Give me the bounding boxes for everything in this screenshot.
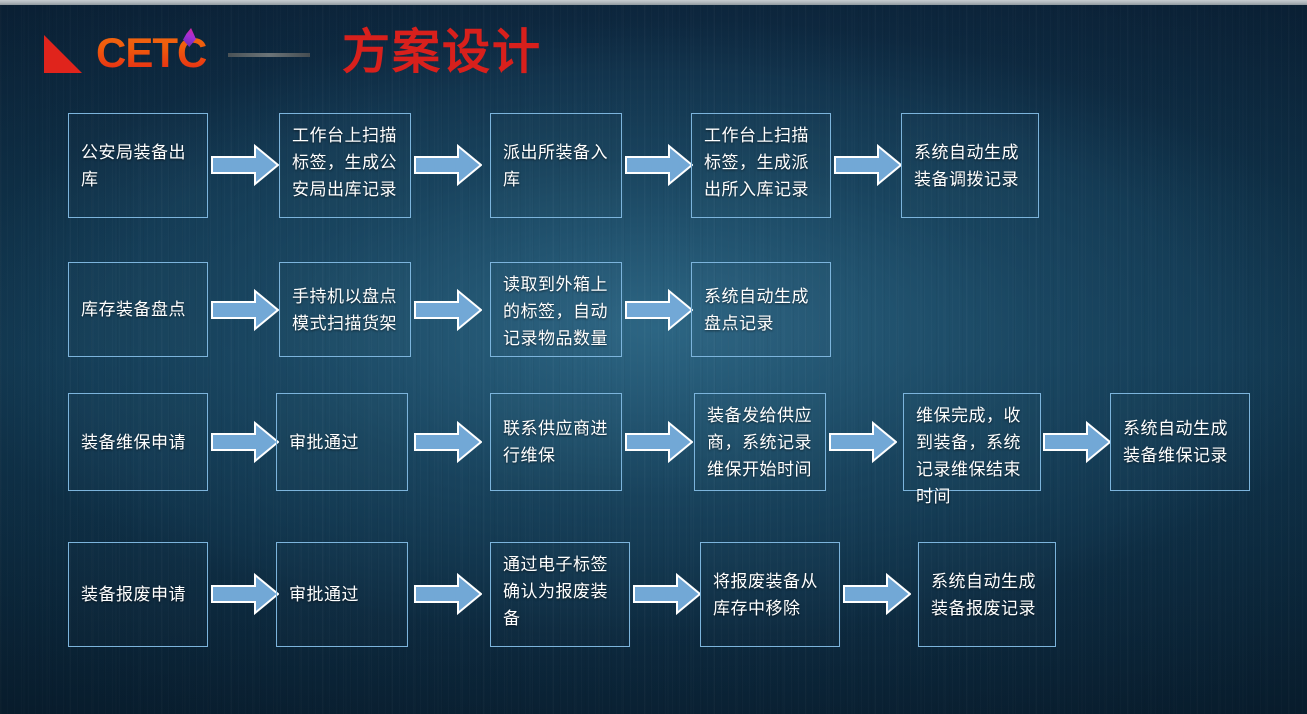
- flow-step-label: 将报废装备从库存中移除: [713, 568, 828, 622]
- flow-step-label: 读取到外箱上的标签，自动记录物品数量: [503, 271, 610, 352]
- flow-step-box: 系统自动生成盘点记录: [691, 262, 831, 357]
- flow-arrow: [829, 420, 897, 464]
- flow-step-box: 派出所装备入库: [490, 113, 622, 218]
- flow-arrow: [211, 143, 279, 187]
- slide-canvas: CETC 方案设计 公安局装备出库 工作台上扫描标签，生成公安局出库记录 派出所…: [0, 0, 1307, 714]
- flow-arrow: [625, 143, 693, 187]
- flow-step-box: 系统自动生成装备维保记录: [1110, 393, 1250, 491]
- flow-step-box: 工作台上扫描标签，生成公安局出库记录: [279, 113, 411, 218]
- flow-step-label: 系统自动生成盘点记录: [704, 283, 819, 337]
- flow-step-label: 审批通过: [289, 581, 396, 608]
- flow-step-box: 公安局装备出库: [68, 113, 208, 218]
- flow-step-box: 审批通过: [276, 542, 408, 647]
- flow-arrow: [843, 572, 911, 616]
- flow-arrow: [625, 420, 693, 464]
- flow-step-box: 装备维保申请: [68, 393, 208, 491]
- flow-step-label: 装备报废申请: [81, 581, 196, 608]
- flow-step-box: 维保完成，收到装备，系统记录维保结束时间: [903, 393, 1041, 491]
- flow-step-label: 手持机以盘点模式扫描货架: [292, 283, 399, 337]
- flow-step-box: 库存装备盘点: [68, 262, 208, 357]
- flow-step-box: 联系供应商进行维保: [490, 393, 622, 491]
- flow-arrow: [414, 572, 482, 616]
- flow-arrow: [211, 420, 279, 464]
- flow-step-box: 系统自动生成装备调拨记录: [901, 113, 1039, 218]
- flow-arrow: [211, 288, 279, 332]
- flow-step-label: 系统自动生成装备报废记录: [931, 568, 1044, 622]
- flow-arrow: [414, 420, 482, 464]
- flow-step-label: 工作台上扫描标签，生成派出所入库记录: [704, 122, 819, 203]
- flow-arrow: [414, 143, 482, 187]
- flow-step-label: 库存装备盘点: [81, 296, 196, 323]
- flow-step-label: 装备维保申请: [81, 429, 196, 456]
- flow-step-box: 将报废装备从库存中移除: [700, 542, 840, 647]
- flow-step-label: 审批通过: [289, 429, 396, 456]
- flow-step-box: 装备报废申请: [68, 542, 208, 647]
- page-title: 方案设计: [342, 24, 542, 82]
- flow-step-box: 读取到外箱上的标签，自动记录物品数量: [490, 262, 622, 357]
- flow-step-label: 系统自动生成装备维保记录: [1123, 415, 1238, 469]
- red-triangle-icon: [44, 35, 82, 73]
- flow-step-box: 手持机以盘点模式扫描货架: [279, 262, 411, 357]
- flow-step-box: 工作台上扫描标签，生成派出所入库记录: [691, 113, 831, 218]
- flow-step-box: 通过电子标签确认为报废装备: [490, 542, 630, 647]
- flow-step-label: 派出所装备入库: [503, 139, 610, 193]
- flow-step-box: 系统自动生成装备报废记录: [918, 542, 1056, 647]
- flow-arrow: [211, 572, 279, 616]
- flow-step-label: 公安局装备出库: [81, 139, 196, 193]
- flow-arrow: [625, 288, 693, 332]
- separator-dash: [228, 53, 310, 57]
- slide-header: CETC 方案设计: [0, 5, 1307, 91]
- flow-arrow: [1043, 420, 1111, 464]
- flow-step-label: 联系供应商进行维保: [503, 415, 610, 469]
- flow-arrow: [834, 143, 902, 187]
- flow-step-box: 审批通过: [276, 393, 408, 491]
- flow-step-box: 装备发给供应商，系统记录维保开始时间: [694, 393, 826, 491]
- flow-step-label: 装备发给供应商，系统记录维保开始时间: [707, 402, 814, 483]
- flow-step-label: 工作台上扫描标签，生成公安局出库记录: [292, 122, 399, 203]
- flow-step-label: 维保完成，收到装备，系统记录维保结束时间: [916, 402, 1029, 510]
- flow-step-label: 系统自动生成装备调拨记录: [914, 139, 1027, 193]
- flow-step-label: 通过电子标签确认为报废装备: [503, 551, 618, 632]
- flow-arrow: [633, 572, 701, 616]
- flow-arrow: [414, 288, 482, 332]
